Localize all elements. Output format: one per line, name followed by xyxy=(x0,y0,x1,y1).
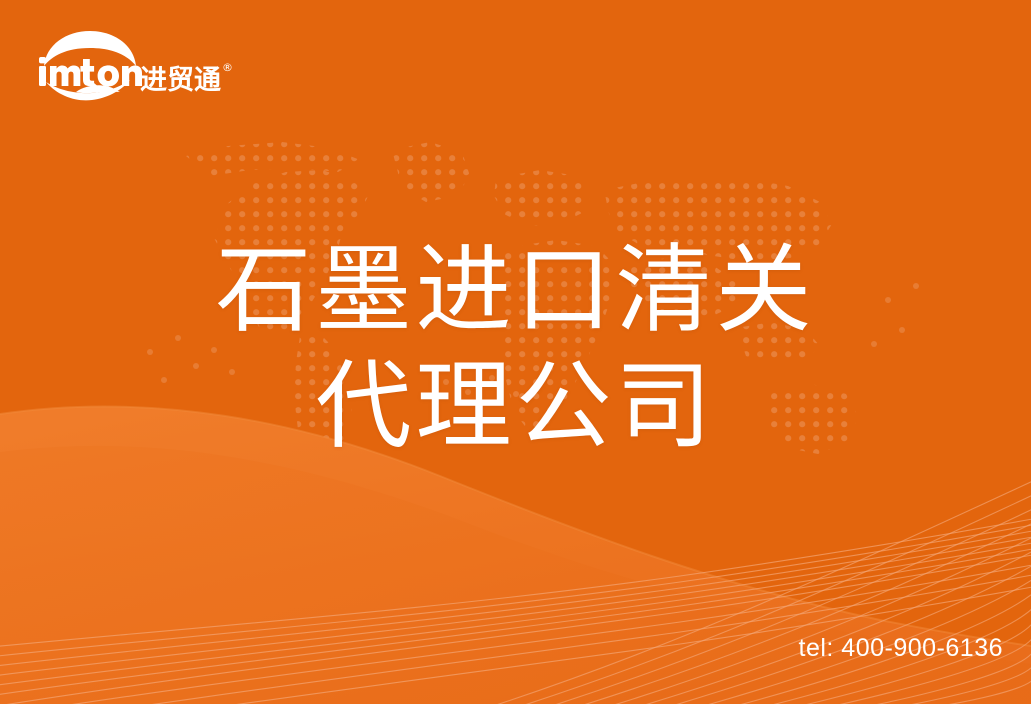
registered-trademark-icon: ® xyxy=(222,62,233,73)
brand-logo[interactable]: 进贸通 ® xyxy=(36,26,216,102)
logo-chinese-name: 进贸通 xyxy=(140,67,221,94)
contact-phone[interactable]: tel: 400-900-6136 xyxy=(799,636,1003,661)
page-title: 石墨进口清关 代理公司 xyxy=(0,232,1031,464)
headline-line-1: 石墨进口清关 xyxy=(0,232,1031,348)
promo-banner: 进贸通 ® 石墨进口清关 代理公司 tel: 400-900-6136 xyxy=(0,0,1031,704)
headline-line-2: 代理公司 xyxy=(0,348,1031,464)
globe-arc-icon xyxy=(36,26,144,102)
